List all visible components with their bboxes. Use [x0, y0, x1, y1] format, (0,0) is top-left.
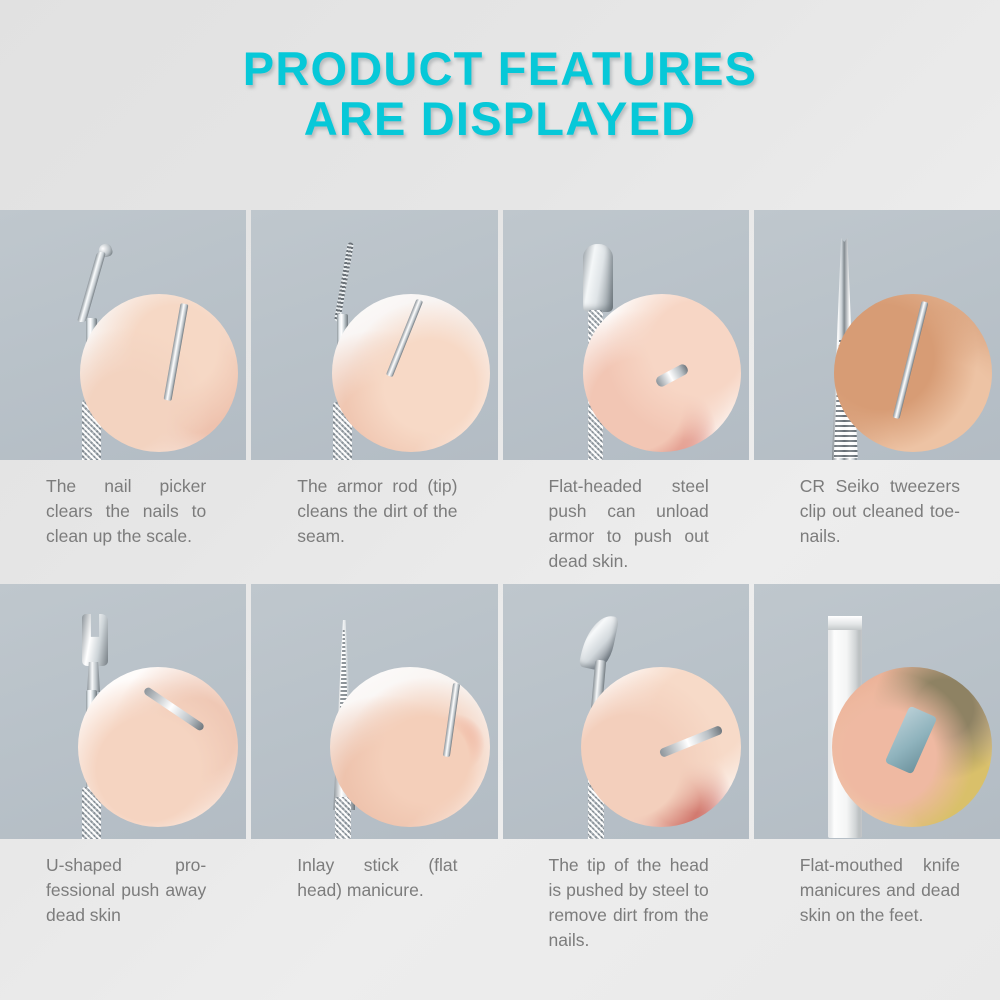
knife-blade-bevel: [828, 616, 862, 630]
hand-nail-closeup-inset: [80, 294, 238, 452]
hands-nail-cleaning-closeup-inset: [581, 667, 741, 827]
feature-card-cr-seiko-tweezers: CR Seiko tweezers clip out cleaned toe-n…: [754, 210, 1000, 584]
hands-pushing-cuticle-closeup-inset: [583, 294, 741, 452]
inset-tool-sliver: [386, 299, 423, 378]
feature-caption: CR Seiko tweezers clip out cleaned toe-n…: [754, 460, 1000, 578]
page-title: PRODUCT FEATURES ARE DISPLAYED: [0, 44, 1000, 144]
feature-card-u-shaped-push: U-shaped pro-fessional push away dead sk…: [0, 584, 246, 963]
tool-photo-nail-picker: [0, 210, 246, 460]
feature-caption: The tip of the head is pushed by steel t…: [503, 839, 749, 963]
flat-pusher-head: [583, 244, 613, 312]
toe-seam-closeup-inset: [332, 294, 490, 452]
tool-photo-flat-mouthed-knife: [754, 584, 1000, 839]
page-title-line-2: ARE DISPLAYED: [0, 94, 1000, 144]
u-shaped-fork-head: [82, 614, 108, 666]
inset-tool-sliver: [443, 683, 460, 757]
inset-tool-sliver: [163, 304, 188, 402]
tweezers-toenail-closeup-inset: [834, 294, 992, 452]
tool-photo-head-tip-push: [503, 584, 749, 839]
tool-photo-armor-rod: [251, 210, 497, 460]
tool-photo-cr-seiko-tweezers: [754, 210, 1000, 460]
tool-photo-flat-headed-steel-push: [503, 210, 749, 460]
feature-card-flat-mouthed-knife: Flat-mouthed knife manicures and dead sk…: [754, 584, 1000, 963]
page-title-line-1: PRODUCT FEATURES: [0, 44, 1000, 94]
inset-tool-sliver: [892, 301, 928, 419]
feature-card-head-tip-push: The tip of the head is pushed by steel t…: [503, 584, 749, 963]
feature-caption: The armor rod (tip) cleans the dirt of t…: [251, 460, 497, 578]
feature-card-nail-picker: The nail picker clears the nails to clea…: [0, 210, 246, 584]
tool-knurled-handle: [335, 797, 351, 839]
feature-caption: Inlay stick (flat head) manicure.: [251, 839, 497, 949]
inset-tool-sliver: [655, 362, 690, 388]
serrated-curved-tip: [334, 242, 354, 322]
tool-photo-u-shaped-push: [0, 584, 246, 839]
product-features-infographic: PRODUCT FEATURES ARE DISPLAYED The nail …: [0, 0, 1000, 1000]
feature-card-armor-rod: The armor rod (tip) cleans the dirt of t…: [251, 210, 497, 584]
hook-bend-shape: [77, 252, 106, 322]
feature-caption: Flat-headed steel push can unload armor …: [503, 460, 749, 584]
feature-card-flat-headed-steel-push: Flat-headed steel push can unload armor …: [503, 210, 749, 584]
feature-caption: The nail picker clears the nails to clea…: [0, 460, 246, 578]
hand-holding-tool-closeup-inset: [78, 667, 238, 827]
foot-blade-closeup-inset: [832, 667, 992, 827]
inset-tool-sliver: [885, 705, 938, 774]
inset-tool-sliver: [658, 725, 723, 758]
tool-photo-inlay-stick: [251, 584, 497, 839]
foot-toes-closeup-inset: [330, 667, 490, 827]
feature-grid: The nail picker clears the nails to clea…: [0, 210, 1000, 963]
feature-caption: Flat-mouthed knife manicures and dead sk…: [754, 839, 1000, 949]
feature-caption: U-shaped pro-fessional push away dead sk…: [0, 839, 246, 949]
tool-neck: [87, 662, 100, 692]
inset-tool-sliver: [143, 687, 206, 733]
feature-card-inlay-stick: Inlay stick (flat head) manicure.: [251, 584, 497, 963]
